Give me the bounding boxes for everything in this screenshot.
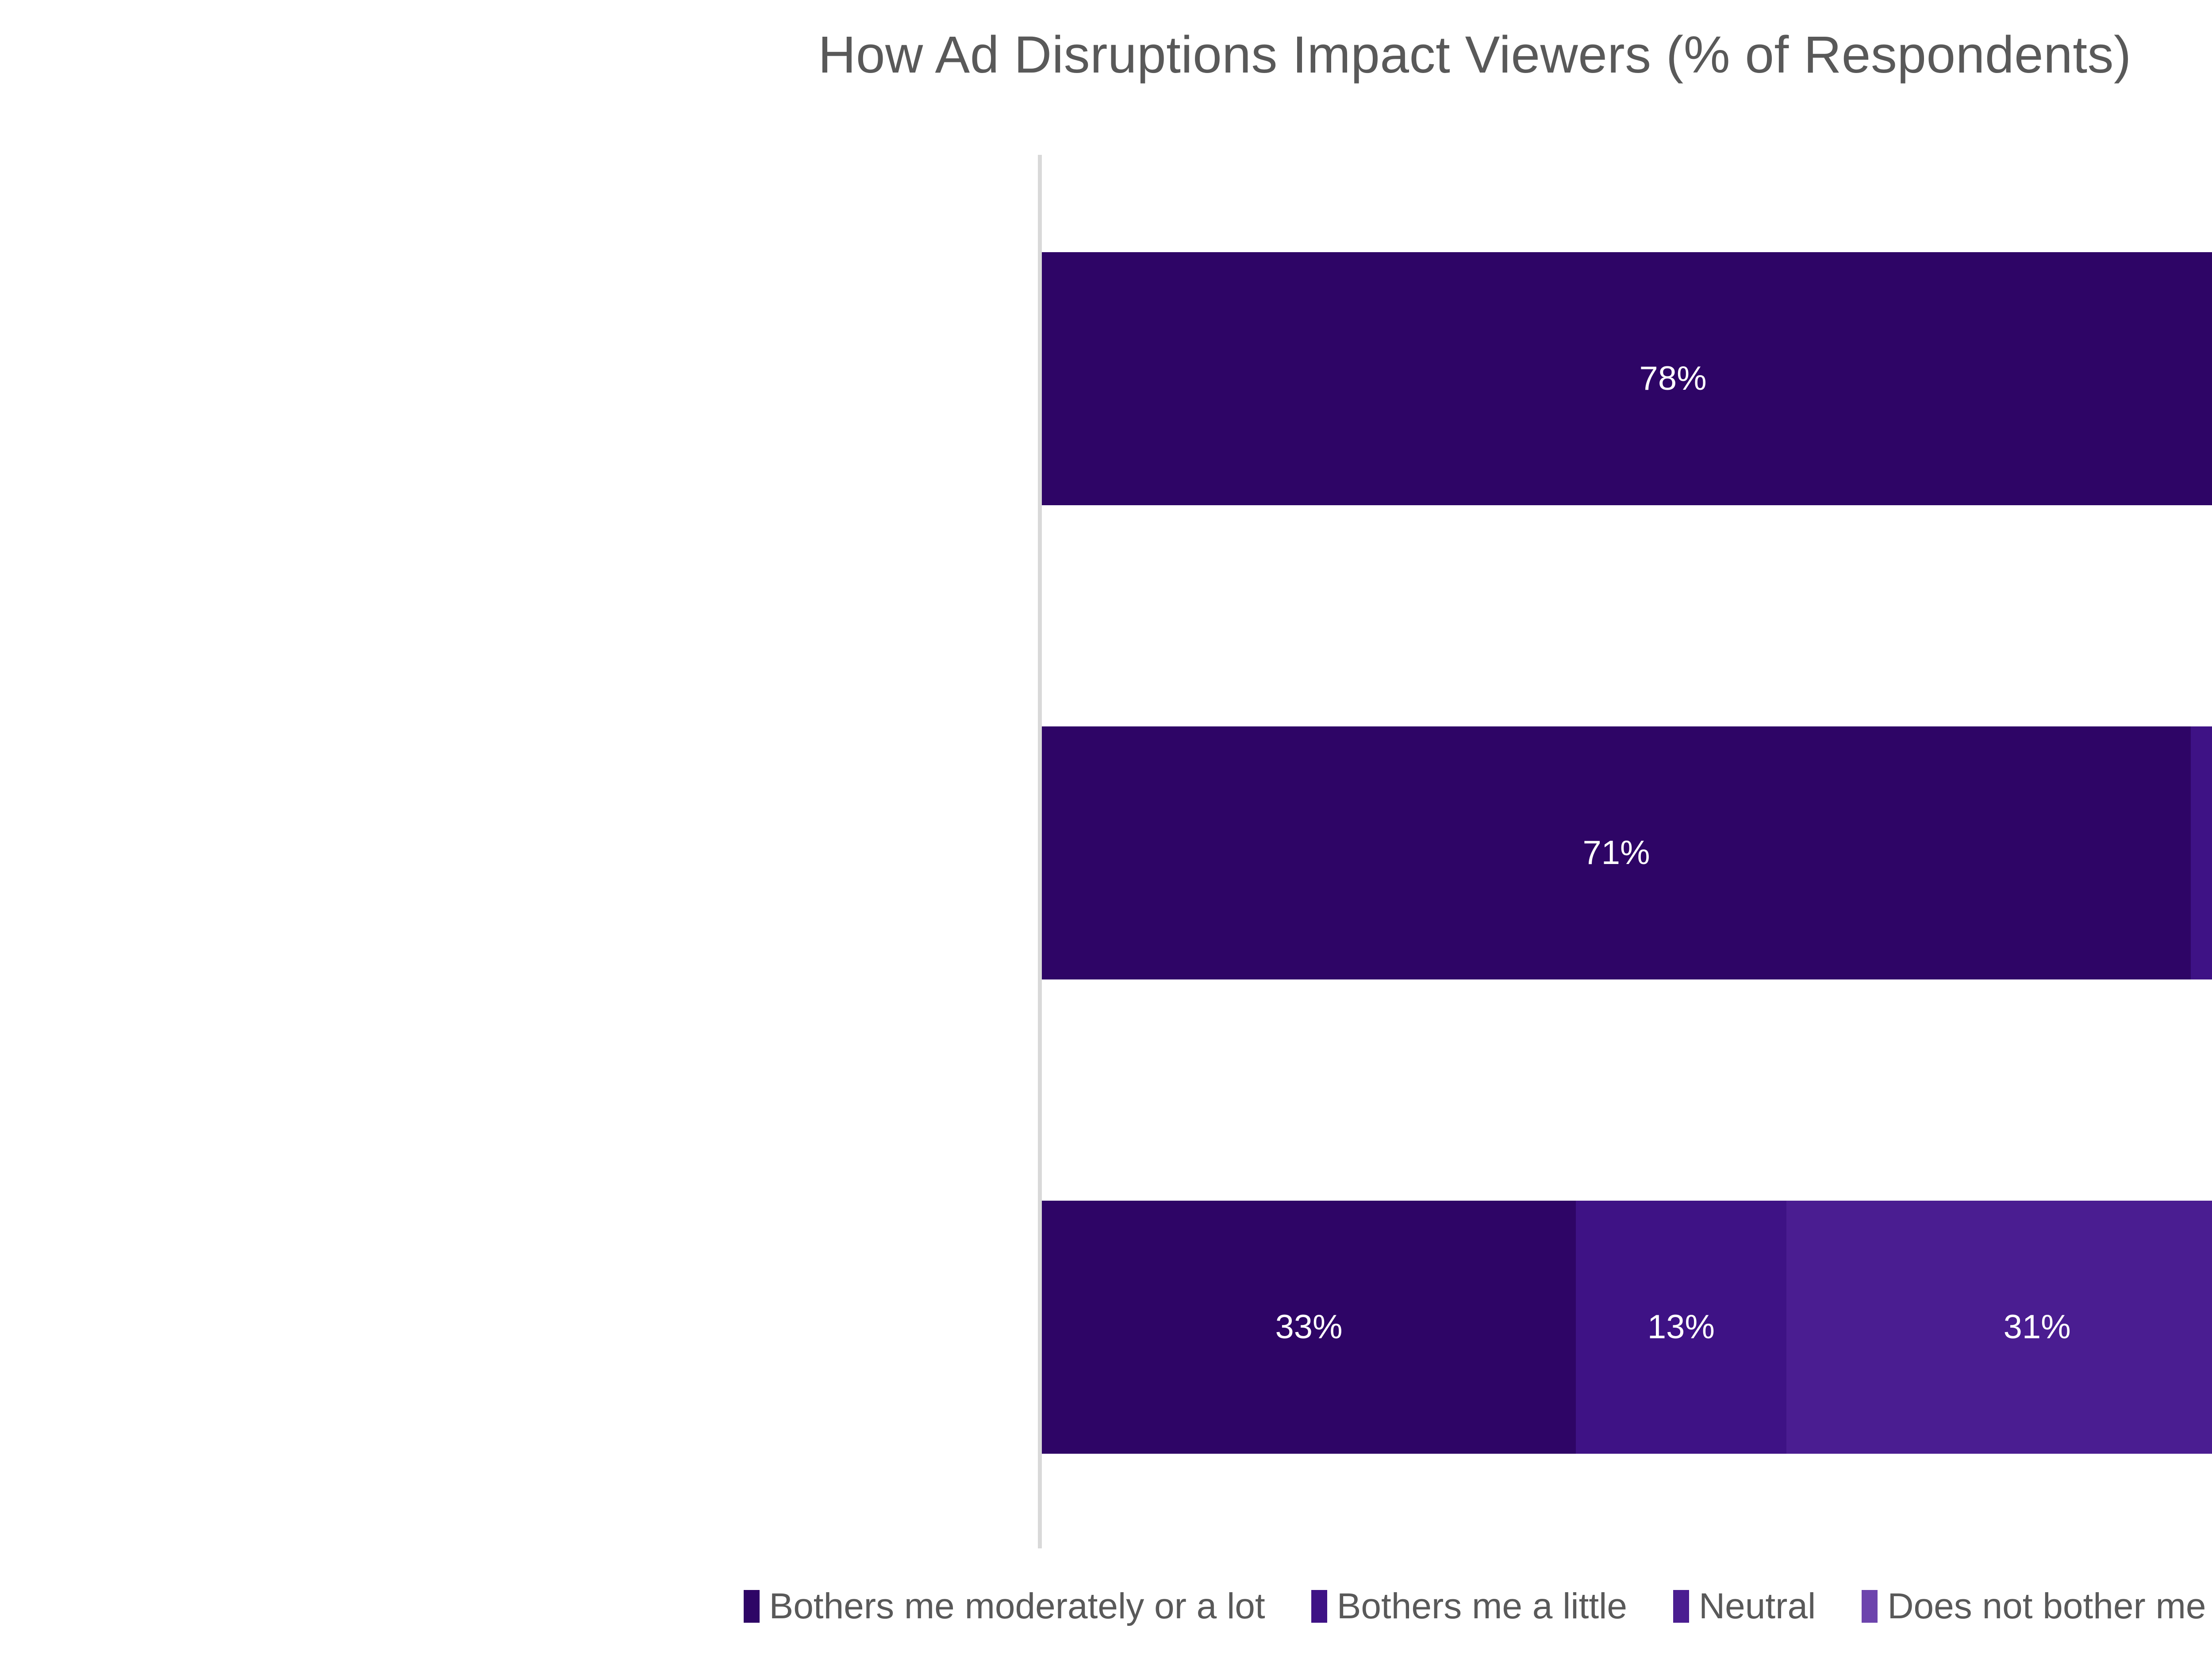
legend-item-label: Does not bother me bbox=[1887, 1588, 2206, 1624]
chart-title: How Ad Disruptions Impact Viewers (% of … bbox=[0, 26, 2212, 84]
legend-item-bothers-moderately-or-a-lot[interactable]: Bothers me moderately or a lot bbox=[744, 1588, 1265, 1624]
legend-item-does-not-bother-me[interactable]: Does not bother me bbox=[1862, 1588, 2206, 1624]
bar-segment[interactable]: 33% bbox=[1042, 1201, 1576, 1454]
bar-segment[interactable]: 13% bbox=[1576, 1201, 1786, 1454]
legend-swatch-icon bbox=[1311, 1590, 1327, 1623]
stacked-bar-row: 78% 11% 7% 4% bbox=[1042, 252, 2212, 505]
bar-segment-label: 71% bbox=[1583, 836, 1650, 870]
legend-item-bothers-a-little[interactable]: Bothers me a little bbox=[1311, 1588, 1627, 1624]
bar-segment-label: 31% bbox=[2004, 1310, 2071, 1344]
bar-segment[interactable]: 31% bbox=[1786, 1201, 2212, 1454]
bar-segment-label: 78% bbox=[1640, 362, 1707, 396]
value-axis-line bbox=[1038, 155, 1042, 1548]
stacked-bar-row: 71% 13% 10% 6% bbox=[1042, 726, 2212, 979]
legend-swatch-icon bbox=[744, 1590, 760, 1623]
bar-segment-label: 13% bbox=[1647, 1310, 1715, 1344]
legend-swatch-icon bbox=[1673, 1590, 1689, 1623]
bar-segment[interactable]: 71% bbox=[1042, 726, 2191, 979]
chart-root: How Ad Disruptions Impact Viewers (% of … bbox=[0, 0, 2212, 1659]
legend-item-label: Bothers me a little bbox=[1337, 1588, 1627, 1624]
bar-segment[interactable]: 78% bbox=[1042, 252, 2212, 505]
plot-area: 78% 11% 7% 4% 71% 13% 10% 6% bbox=[1042, 155, 2212, 1548]
legend-swatch-icon bbox=[1862, 1590, 1878, 1623]
legend-item-label: Neutral bbox=[1699, 1588, 1816, 1624]
legend-item-neutral[interactable]: Neutral bbox=[1673, 1588, 1816, 1624]
stacked-bar-row: 33% 13% 31% 23% bbox=[1042, 1201, 2212, 1454]
legend-item-label: Bothers me moderately or a lot bbox=[769, 1588, 1265, 1624]
bar-segment-label: 33% bbox=[1275, 1310, 1343, 1344]
chart-legend: Bothers me moderately or a lot Bothers m… bbox=[0, 1588, 2212, 1624]
bar-segment[interactable]: 13% bbox=[2191, 726, 2212, 979]
